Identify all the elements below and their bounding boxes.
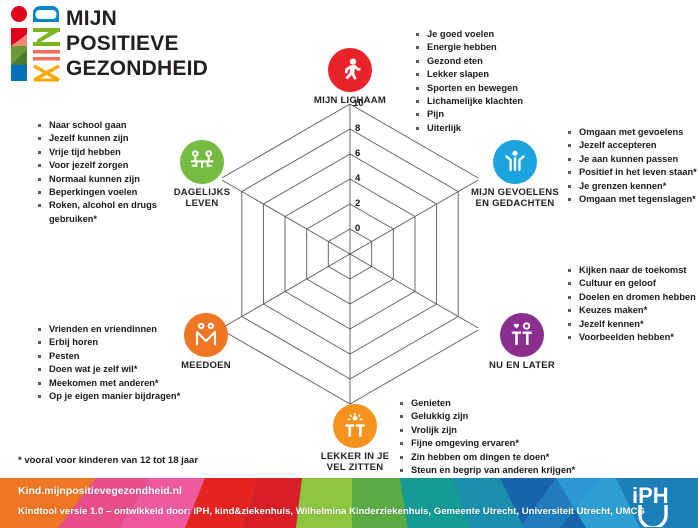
list-item: Jezelf accepteren <box>568 139 697 152</box>
person-at-desk-icon <box>180 140 224 184</box>
person-arms-up-icon <box>493 140 537 184</box>
two-people-sun-icon <box>333 404 377 448</box>
list-item: Lekker slapen <box>416 68 523 81</box>
footer-bar: Kind.mijnpositievegezondheid.nl Kindtool… <box>0 478 698 528</box>
list-item-label: Beperkingen voelen <box>49 186 137 199</box>
two-people-heart-icon <box>500 313 544 357</box>
bullet-icon <box>568 336 571 339</box>
bullet-icon <box>416 113 419 116</box>
axis-tick-8: 8 <box>355 123 360 134</box>
list-dagelijks-leven: Naar school gaan Jezelf kunnen zijn Vrij… <box>38 119 157 226</box>
bullet-icon <box>400 429 403 432</box>
list-item: Fijne omgeving ervaren* <box>400 437 575 450</box>
footer-credit: Kindtool versie 1.0 – ontwikkeld door: i… <box>18 506 645 517</box>
list-item: Je grenzen kennen* <box>568 180 697 193</box>
bullet-icon <box>38 164 41 167</box>
bullet-icon <box>38 328 41 331</box>
list-nu-en-later: Kijken naar de toekomst Cultuur en geloo… <box>568 264 696 344</box>
bullet-icon <box>568 171 571 174</box>
list-item-label: Steun en begrip van anderen krijgen* <box>411 464 575 477</box>
bullet-icon <box>400 469 403 472</box>
running-person-icon <box>328 48 372 92</box>
list-item: Steun en begrip van anderen krijgen* <box>400 464 575 477</box>
brand-logo: MIJN POSITIEVE GEZONDHEID <box>8 4 208 86</box>
list-item-continuation: gebruiken* <box>38 213 157 226</box>
list-item-label: Energie hebben <box>427 41 497 54</box>
bullet-icon <box>568 323 571 326</box>
list-item-label: Erbij horen <box>49 336 98 349</box>
bullet-icon <box>38 355 41 358</box>
list-item: Jezelf kunnen zijn <box>38 132 157 145</box>
list-item-label: Roken, alcohol en drugs <box>49 199 157 212</box>
list-item-label: Pesten <box>49 350 80 363</box>
bullet-icon <box>416 73 419 76</box>
list-item-label: Uiterlijk <box>427 122 461 135</box>
list-item: Beperkingen voelen <box>38 186 157 199</box>
category-label-line1: MIJN GEVOELENS <box>455 187 575 198</box>
category-node-dagelijks-leven[interactable]: DAGELIJKS LEVEN <box>142 140 262 209</box>
footnote: * vooral voor kinderen van 12 tot 18 jaa… <box>18 455 198 466</box>
category-label: NU EN LATER <box>462 360 582 371</box>
list-item-label: Jezelf accepteren <box>579 139 657 152</box>
list-item-label: Jezelf kunnen zijn <box>49 132 129 145</box>
list-item: Vrienden en vriendinnen <box>38 323 180 336</box>
list-item: Omgaan met tegenslagen* <box>568 193 697 206</box>
list-meedoen: Vrienden en vriendinnen Erbij horen Pest… <box>38 323 180 403</box>
bullet-icon <box>400 442 403 445</box>
bullet-icon <box>38 395 41 398</box>
list-item: Pijn <box>416 108 523 121</box>
bullet-icon <box>568 144 571 147</box>
list-item: Meekomen met anderen* <box>38 377 180 390</box>
bullet-icon <box>38 191 41 194</box>
list-item: Erbij horen <box>38 336 180 349</box>
list-item: Roken, alcohol en drugs <box>38 199 157 212</box>
list-item-label: Vrolijk zijn <box>411 424 457 437</box>
category-label-line1: LEKKER IN JE <box>295 451 415 462</box>
bullet-icon <box>416 87 419 90</box>
list-item-label: Voor jezelf zorgen <box>49 159 128 172</box>
list-item-label: Pijn <box>427 108 444 121</box>
list-item: Lichamelijke klachten <box>416 95 523 108</box>
list-item-label: Lichamelijke klachten <box>427 95 523 108</box>
axis-tick-4: 4 <box>355 173 360 184</box>
list-item-label: Vrije tijd hebben <box>49 146 121 159</box>
bullet-icon <box>416 127 419 130</box>
list-item: Voor jezelf zorgen <box>38 159 157 172</box>
category-node-lekker-in-je-vel-zitten[interactable]: LEKKER IN JE VEL ZITTEN <box>295 404 415 473</box>
axis-tick-6: 6 <box>355 148 360 159</box>
list-item-label: Keuzes maken* <box>579 304 647 317</box>
svg-text:iPH: iPH <box>632 483 669 508</box>
list-item-label: gebruiken* <box>49 213 97 226</box>
list-item-label: Omgaan met gevoelens <box>579 126 683 139</box>
bullet-icon <box>400 415 403 418</box>
list-item-label: Gezond eten <box>427 55 483 68</box>
bullet-icon <box>38 341 41 344</box>
list-item-label: Voorbeelden hebben* <box>579 331 674 344</box>
list-item: Naar school gaan <box>38 119 157 132</box>
category-node-mijn-lichaam[interactable]: MIJN LICHAAM <box>290 48 410 106</box>
footer-url[interactable]: Kind.mijnpositievegezondheid.nl <box>18 485 182 497</box>
list-mijn-lichaam: Je goed voelen Energie hebben Gezond ete… <box>416 28 523 135</box>
two-people-m-icon <box>184 313 228 357</box>
bullet-icon <box>38 382 41 385</box>
bullet-icon <box>38 124 41 127</box>
bullet-icon <box>38 368 41 371</box>
list-item-label: Doelen en dromen hebben <box>579 291 696 304</box>
logo-line-2: POSITIEVE <box>66 33 179 54</box>
logo-line-3: GEZONDHEID <box>66 58 208 79</box>
list-item: Pesten <box>38 350 180 363</box>
list-item: Jezelf kennen* <box>568 318 696 331</box>
list-item: Op je eigen manier bijdragen* <box>38 390 180 403</box>
list-item: Vrolijk zijn <box>400 424 575 437</box>
poster-root: MIJN POSITIEVE GEZONDHEID <box>0 0 698 528</box>
bullet-icon <box>416 33 419 36</box>
bullet-icon <box>38 204 41 207</box>
bullet-icon <box>38 178 41 181</box>
bullet-icon <box>568 185 571 188</box>
list-item: Uiterlijk <box>416 122 523 135</box>
list-item: Keuzes maken* <box>568 304 696 317</box>
list-item: Energie hebben <box>416 41 523 54</box>
bullet-icon <box>568 309 571 312</box>
list-item-label: Meekomen met anderen* <box>49 377 159 390</box>
bullet-icon <box>416 46 419 49</box>
list-item: Voorbeelden hebben* <box>568 331 696 344</box>
list-item: Omgaan met gevoelens <box>568 126 697 139</box>
bullet-icon <box>400 456 403 459</box>
list-item-label: Op je eigen manier bijdragen* <box>49 390 180 403</box>
list-item-label: Normaal kunnen zijn <box>49 173 140 186</box>
list-item-label: Je aan kunnen passen <box>579 153 678 166</box>
bullet-icon <box>568 296 571 299</box>
list-item-label: Lekker slapen <box>427 68 489 81</box>
iph-logo: iPH <box>628 481 690 527</box>
list-item: Vrije tijd hebben <box>38 146 157 159</box>
bullet-icon <box>568 131 571 134</box>
bullet-icon <box>38 151 41 154</box>
category-label: MIJN LICHAAM <box>290 95 410 106</box>
bullet-icon <box>568 282 571 285</box>
bullet-icon <box>568 269 571 272</box>
category-node-nu-en-later[interactable]: NU EN LATER <box>462 313 582 371</box>
list-item-label: Fijne omgeving ervaren* <box>411 437 519 450</box>
bullet-icon <box>568 198 571 201</box>
category-node-mijn-gevoelens-en-gedachten[interactable]: MIJN GEVOELENS EN GEDACHTEN <box>455 140 575 209</box>
list-item: Cultuur en geloof <box>568 277 696 290</box>
list-item: Normaal kunnen zijn <box>38 173 157 186</box>
logo-line-1: MIJN <box>66 8 117 29</box>
list-item-label: Naar school gaan <box>49 119 127 132</box>
list-lekker-in-je-vel-zitten: Genieten Gelukkig zijn Vrolijk zijn Fijn… <box>400 397 575 477</box>
list-item-label: Kijken naar de toekomst <box>579 264 686 277</box>
list-item-label: Sporten en bewegen <box>427 82 518 95</box>
category-label-line2: VEL ZITTEN <box>295 462 415 473</box>
bullet-icon <box>38 137 41 140</box>
list-item-label: Gelukkig zijn <box>411 410 468 423</box>
bullet-icon <box>568 158 571 161</box>
category-label-line2: LEVEN <box>142 198 262 209</box>
list-item: Zin hebben om dingen te doen* <box>400 451 575 464</box>
bullet-icon <box>416 60 419 63</box>
list-item: Je goed voelen <box>416 28 523 41</box>
list-item: Positief in het leven staan* <box>568 166 697 179</box>
list-item: Doen wat je zelf wil* <box>38 363 180 376</box>
list-item: Gelukkig zijn <box>400 410 575 423</box>
list-item-label: Genieten <box>411 397 451 410</box>
list-item-label: Vrienden en vriendinnen <box>49 323 157 336</box>
list-item-label: Cultuur en geloof <box>579 277 656 290</box>
list-mijn-gevoelens-en-gedachten: Omgaan met gevoelens Jezelf accepteren J… <box>568 126 697 206</box>
list-item: Sporten en bewegen <box>416 82 523 95</box>
list-item-label: Jezelf kennen* <box>579 318 644 331</box>
list-item-label: Doen wat je zelf wil* <box>49 363 137 376</box>
category-label-line2: EN GEDACHTEN <box>455 198 575 209</box>
list-item: Gezond eten <box>416 55 523 68</box>
list-item: Kijken naar de toekomst <box>568 264 696 277</box>
axis-tick-0: 0 <box>355 223 360 234</box>
list-item: Je aan kunnen passen <box>568 153 697 166</box>
bullet-icon <box>400 402 403 405</box>
logo-mark-icon <box>8 4 64 84</box>
bullet-icon <box>416 100 419 103</box>
axis-tick-2: 2 <box>355 198 360 209</box>
list-item-label: Omgaan met tegenslagen* <box>579 193 696 206</box>
list-item-label: Je goed voelen <box>427 28 494 41</box>
list-item-label: Je grenzen kennen* <box>579 180 666 193</box>
list-item: Doelen en dromen hebben <box>568 291 696 304</box>
list-item-label: Zin hebben om dingen te doen* <box>411 451 549 464</box>
list-item: Genieten <box>400 397 575 410</box>
category-label-line1: DAGELIJKS <box>142 187 262 198</box>
list-item-label: Positief in het leven staan* <box>579 166 697 179</box>
